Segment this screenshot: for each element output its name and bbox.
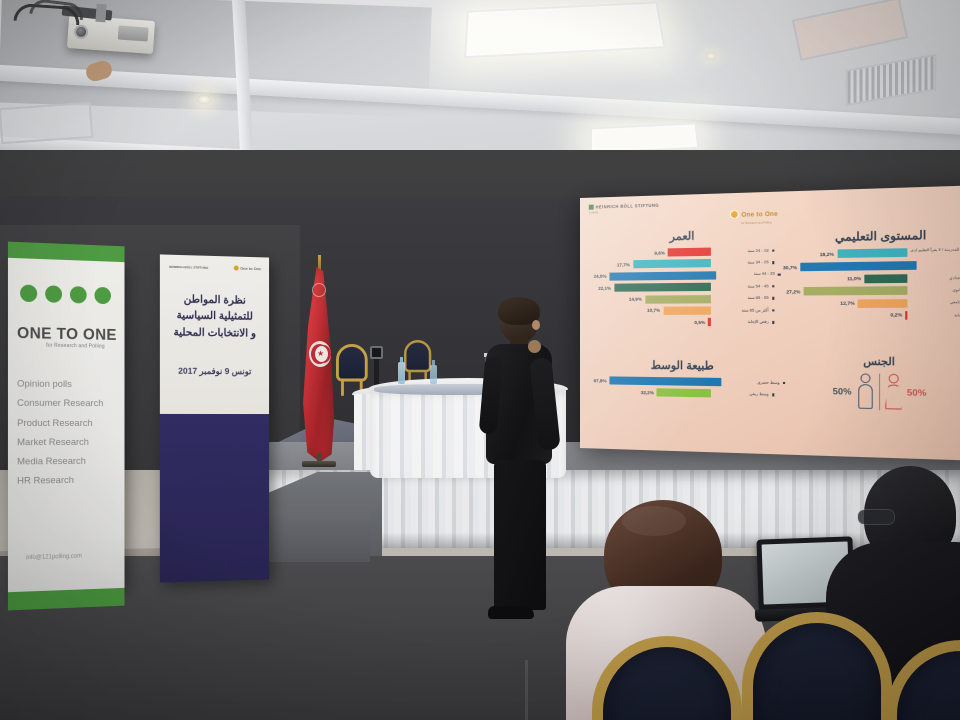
bar xyxy=(858,299,907,308)
bar-value: 18,2% xyxy=(820,252,834,258)
bar-label: رفض الإجابة xyxy=(910,313,960,318)
bar xyxy=(663,306,710,314)
bar-track: 14,9% xyxy=(594,295,711,304)
bar-row: 18 - 24 سنة9,6% xyxy=(594,246,775,257)
banner-title: ONE TO ONE xyxy=(17,325,117,345)
chart-gender-title: الجنس xyxy=(796,356,960,369)
bar xyxy=(633,259,711,268)
presenter-hand xyxy=(528,340,541,353)
bullet-icon xyxy=(772,261,775,264)
banner-services-list: Opinion pollsConsumer ResearchProduct Re… xyxy=(17,374,103,491)
banner-service-item: Opinion polls xyxy=(17,374,103,394)
spotlight xyxy=(197,95,211,104)
banner-event-top: HEINRICH BÖLL STIFTUNG One to One نظرة ا… xyxy=(160,254,269,414)
bar-row: 35 - 44 سنة24,5% xyxy=(594,270,775,280)
banner-event-title-line: و الانتخابات المحلية xyxy=(165,324,264,342)
presenter xyxy=(482,300,558,630)
bar-value: 32,2% xyxy=(641,390,654,395)
star-icon: ★ xyxy=(317,350,324,357)
banner-event-bottom: ? الانتخاباتElectionsELECTIONSالتمثيليةا… xyxy=(160,414,269,583)
bar xyxy=(645,295,711,304)
bar-row: لم يذهب للمدرسة / لا يقرأ التعليم لدى ال… xyxy=(783,247,960,260)
bar xyxy=(804,286,907,295)
bullet-icon xyxy=(772,321,775,324)
presenter-ear xyxy=(532,320,540,330)
bar-row: رفض الإجابة0,5% xyxy=(594,318,775,326)
bar-value: 0,2% xyxy=(890,313,902,318)
bar-track: 11,0% xyxy=(783,274,907,284)
bar-row: 45 - 54 سنة22,1% xyxy=(594,282,775,292)
chart-age: العمر 18 - 24 سنة9,6%25 - 34 سنة17,7%35 … xyxy=(594,227,775,330)
bar-row: رفض الإجابة0,2% xyxy=(783,311,960,320)
chart-age-rows: 18 - 24 سنة9,6%25 - 34 سنة17,7%35 - 44 س… xyxy=(594,246,775,326)
flag-emblem-icon xyxy=(312,283,326,297)
bar-label: 55 - 65 سنة xyxy=(714,296,769,301)
one-to-one-logo-sub: for Research and Polling xyxy=(741,221,778,225)
bar-label: وسط حضري xyxy=(724,380,779,386)
bar-track: 0,5% xyxy=(594,318,711,326)
banner-event-hbs-logo: HEINRICH BÖLL STIFTUNG xyxy=(169,265,208,270)
slide: HEINRICH BÖLL STIFTUNG TUNIS One to One … xyxy=(580,185,960,461)
banner-email: info@121polling.com xyxy=(26,554,82,562)
bar-row: مستوى إعدادي11,0% xyxy=(783,273,960,284)
projector-body xyxy=(118,26,149,42)
chart-age-title: العمر xyxy=(594,227,775,244)
bar-value: 22,1% xyxy=(598,285,611,290)
eye-icon xyxy=(234,266,239,271)
bar-track: 22,1% xyxy=(594,283,711,292)
bar-value: 30,7% xyxy=(783,265,797,270)
male-percent: 50% xyxy=(833,386,852,397)
chart-gender: الجنس 50% 50% xyxy=(796,356,960,412)
bar-label: وسط ريفي xyxy=(714,391,769,397)
banner-event-date: تونس 9 نوفمبر 2017 xyxy=(160,365,269,377)
audience-chair xyxy=(742,612,892,720)
bar xyxy=(906,311,907,320)
presenter-legs xyxy=(494,460,546,610)
bar xyxy=(657,389,711,398)
bullet-icon xyxy=(772,393,775,396)
banner-event-ooo-logo: One to One xyxy=(234,266,261,272)
banner-event-title: نظرة المواطنللتمثيلية السياسيةو الانتخاب… xyxy=(165,291,264,342)
bullet-icon xyxy=(772,285,775,288)
bar-track: 12,7% xyxy=(783,299,907,308)
audience-chair xyxy=(592,636,742,720)
hbs-mark-icon xyxy=(589,205,594,210)
eye-icon xyxy=(730,210,739,220)
bar-label: أكثر من 65 سنة xyxy=(714,308,769,313)
banner-service-item: Product Research xyxy=(17,413,103,432)
bar-label: مستوى إعدادي xyxy=(910,275,960,281)
bar-track: 32,2% xyxy=(594,388,711,398)
bar-label: رفض الإجابة xyxy=(714,320,769,325)
bar-row: أكثر من 65 سنة10,7% xyxy=(594,306,775,315)
banner-event: HEINRICH BÖLL STIFTUNG One to One نظرة ا… xyxy=(160,254,269,582)
banner-top-strip xyxy=(8,242,125,263)
bar-label: مستوى إبتدائي xyxy=(921,262,960,268)
chart-education-rows: لم يذهب للمدرسة / لا يقرأ التعليم لدى ال… xyxy=(783,247,960,320)
bullet-icon xyxy=(772,309,775,312)
banner-event-title-line: نظرة المواطن xyxy=(165,291,264,309)
bar xyxy=(865,274,907,283)
bar xyxy=(614,283,711,292)
bar-value: 27,2% xyxy=(786,289,800,294)
chart-education-title: المستوى التعليمي xyxy=(783,227,960,245)
bar-value: 0,5% xyxy=(694,320,705,325)
bar-value: 9,6% xyxy=(654,250,665,255)
bar-track: 67,8% xyxy=(594,376,722,386)
one-to-one-logo-text: One to One xyxy=(741,212,778,219)
bar-track: 0,2% xyxy=(783,311,907,320)
ceiling-tile xyxy=(792,0,908,61)
bar xyxy=(708,318,710,326)
bar-value: 12,7% xyxy=(840,301,854,306)
banner-event-ooo-text: One to One xyxy=(240,266,261,272)
bar-label: 45 - 54 سنة xyxy=(714,284,769,290)
bar-value: 67,8% xyxy=(594,378,607,383)
bar-value: 24,5% xyxy=(594,274,607,279)
bar-value: 17,7% xyxy=(617,262,630,267)
banner-service-item: Consumer Research xyxy=(17,394,103,414)
female-figure-icon xyxy=(884,374,902,411)
gender-figures: 50% 50% xyxy=(796,373,960,412)
hbs-logo-sub: TUNIS xyxy=(589,209,659,216)
bullet-icon xyxy=(772,249,775,252)
bar xyxy=(837,249,907,259)
banner-one-to-one: ONE TO ONE for Research and Polling Opin… xyxy=(8,258,125,592)
banner-dots-icon xyxy=(20,285,111,305)
bar-track: 17,7% xyxy=(594,259,711,269)
flag-stand-base xyxy=(302,461,336,467)
projection-screen: HEINRICH BÖLL STIFTUNG TUNIS One to One … xyxy=(580,185,960,461)
ceiling-projector xyxy=(67,15,155,54)
bar-track: 24,5% xyxy=(594,271,717,281)
banner-service-item: Media Research xyxy=(17,452,103,472)
chart-environment-rows: وسط حضري67,8%وسط ريفي32,2% xyxy=(594,376,775,399)
bar-track: 30,7% xyxy=(783,261,917,271)
glasses-icon xyxy=(858,510,894,524)
bar-row: مستوى إبتدائي30,7% xyxy=(783,261,960,272)
bar-label: 18 - 24 سنة xyxy=(714,248,769,254)
water-bottle xyxy=(398,362,405,384)
banner-service-item: HR Research xyxy=(17,471,103,491)
bullet-icon xyxy=(778,273,781,276)
ceiling-light-panel xyxy=(464,2,665,59)
audience-chair xyxy=(886,640,960,720)
water-bottle xyxy=(430,365,437,384)
bar-value: 11,0% xyxy=(847,276,861,282)
banner-service-item: Market Research xyxy=(17,433,103,453)
bar-row: وسط ريفي32,2% xyxy=(594,388,775,399)
bar-label: لم يذهب للمدرسة / لا يقرأ التعليم لدى ال… xyxy=(910,247,960,258)
female-percent: 50% xyxy=(907,387,927,398)
bar-label: مستوى ثانوي xyxy=(910,288,960,293)
conference-room-photo: HEINRICH BÖLL STIFTUNG TUNIS One to One … xyxy=(0,0,960,720)
bar-value: 10,7% xyxy=(647,308,660,313)
chart-environment: طبيعة الوسط وسط حضري67,8%وسط ريفي32,2% xyxy=(594,358,775,402)
bar-row: مستوى جامعي12,7% xyxy=(783,298,960,308)
bar-track: 10,7% xyxy=(594,306,711,315)
bar-label: مستوى جامعي xyxy=(910,300,960,305)
spotlight xyxy=(705,52,717,60)
bar-track: 27,2% xyxy=(783,286,907,295)
gender-divider xyxy=(878,374,879,411)
projector-mount xyxy=(95,4,106,23)
projector-lens-icon xyxy=(74,24,89,39)
bar-row: 25 - 34 سنة17,7% xyxy=(594,258,775,269)
bar-label: 35 - 44 سنة xyxy=(720,272,775,278)
hbs-logo: HEINRICH BÖLL STIFTUNG TUNIS xyxy=(589,203,659,216)
presenter-shoe xyxy=(488,606,534,619)
bar-value: 14,9% xyxy=(629,297,642,302)
male-figure-icon xyxy=(856,373,874,410)
bar-label: 25 - 34 سنة xyxy=(714,260,769,266)
banner-subtitle: for Research and Polling xyxy=(46,343,105,350)
bar xyxy=(668,248,710,257)
banner-event-title-line: للتمثيلية السياسية xyxy=(165,307,264,325)
bullet-icon xyxy=(783,382,786,385)
bar xyxy=(609,376,721,386)
chart-education: المستوى التعليمي لم يذهب للمدرسة / لا يق… xyxy=(783,227,960,323)
chart-environment-title: طبيعة الوسط xyxy=(594,358,775,373)
ceiling-tile xyxy=(0,102,93,144)
bullet-icon xyxy=(772,297,775,300)
bar xyxy=(609,271,716,280)
bar-row: وسط حضري67,8% xyxy=(594,376,775,387)
bar-track: 9,6% xyxy=(594,248,711,258)
bar-row: مستوى ثانوي27,2% xyxy=(783,286,960,296)
one-to-one-logo: One to One for Research and Polling xyxy=(730,202,778,225)
bar-row: 55 - 65 سنة14,9% xyxy=(594,294,775,303)
bar-track: 18,2% xyxy=(783,249,907,260)
bar xyxy=(800,261,917,271)
air-vent-icon xyxy=(846,54,937,107)
